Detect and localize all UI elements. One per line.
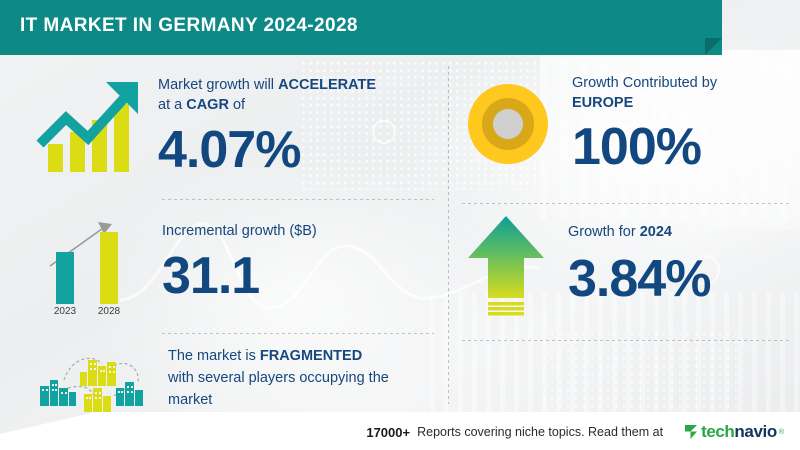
stat-value-europe: 100% [572,121,717,173]
stat-value-growth-2024: 3.84% [568,253,710,305]
stat-block-growth-2024: Growth for 2024 3.84% [462,212,792,316]
page-title: IT MARKET IN GERMANY 2024-2028 [20,15,358,37]
footer-report-count: 17000+ [366,425,410,440]
caption-emphasis: ACCELERATE [278,77,376,93]
caption-emphasis: CAGR [186,97,229,113]
footer-bar: 17000+ Reports covering niche topics. Re… [0,412,800,450]
logo-text-navio: navio [734,422,776,441]
caption-text: The market is [168,348,260,364]
technavio-logo[interactable]: technavio ® [684,422,784,442]
bar-label-end: 2028 [98,306,121,316]
footer-tagline: Reports covering niche topics. Read them… [417,425,663,439]
caption-text: Growth for [568,224,640,240]
caption-text: of [229,97,245,113]
stat-block-fragmented: The market is FRAGMENTED with several pl… [28,344,443,414]
stat-block-cagr: Market growth will ACCELERATE at a CAGR … [28,72,438,180]
footer-content: 17000+ Reports covering niche topics. Re… [366,422,784,442]
growth-bar-chart-arrow-icon [28,72,150,180]
horizontal-divider [462,203,792,204]
background-dot-matrix-secondary [540,330,740,420]
horizontal-divider [462,340,792,341]
city-buildings-network-icon [28,344,154,414]
stat-caption-europe: Growth Contributed by EUROPE [572,74,717,113]
stat-caption-fragmented: The market is FRAGMENTED with several pl… [168,346,389,411]
horizontal-divider [162,333,434,334]
stat-text-growth-2024: Growth for 2024 3.84% [568,223,710,305]
infographic-canvas: IT MARKET IN GERMANY 2024-2028 Market gr… [0,0,800,450]
technavio-flag-icon [684,423,699,441]
stat-value-incremental: 31.1 [162,250,317,302]
header-corner-fold [705,38,722,55]
stat-block-incremental-growth: 2023 2028 Incremental growth ($B) 31.1 [28,208,438,316]
donut-chart-icon [462,78,554,170]
stat-value-cagr: 4.07% [158,124,376,176]
caption-text: market [168,392,212,408]
caption-text: Market growth will [158,77,278,93]
stat-text-incremental: Incremental growth ($B) 31.1 [162,222,317,302]
horizontal-divider [162,199,434,200]
logo-text-tech: tech [701,422,734,441]
stat-text-cagr: Market growth will ACCELERATE at a CAGR … [158,76,376,175]
caption-text: Growth Contributed by [572,75,717,91]
caption-text: with several players occupying the [168,370,389,386]
stat-caption-growth-2024: Growth for 2024 [568,223,710,243]
caption-emphasis: EUROPE [572,95,633,111]
stat-text-europe: Growth Contributed by EUROPE 100% [572,74,717,173]
up-arrow-gradient-icon [462,212,550,316]
caption-emphasis: 2024 [640,224,672,240]
two-bars-comparison-icon: 2023 2028 [28,208,148,316]
stat-caption-cagr: Market growth will ACCELERATE at a CAGR … [158,76,376,115]
caption-emphasis: FRAGMENTED [260,348,362,364]
caption-text: at a [158,97,186,113]
vertical-divider [448,66,449,404]
header-bar: IT MARKET IN GERMANY 2024-2028 [0,0,722,55]
stat-block-europe: Growth Contributed by EUROPE 100% [462,74,792,173]
logo-trademark: ® [779,429,784,436]
stat-caption-incremental: Incremental growth ($B) [162,222,317,242]
stat-text-fragmented: The market is FRAGMENTED with several pl… [168,346,389,411]
bar-label-start: 2023 [54,306,77,316]
